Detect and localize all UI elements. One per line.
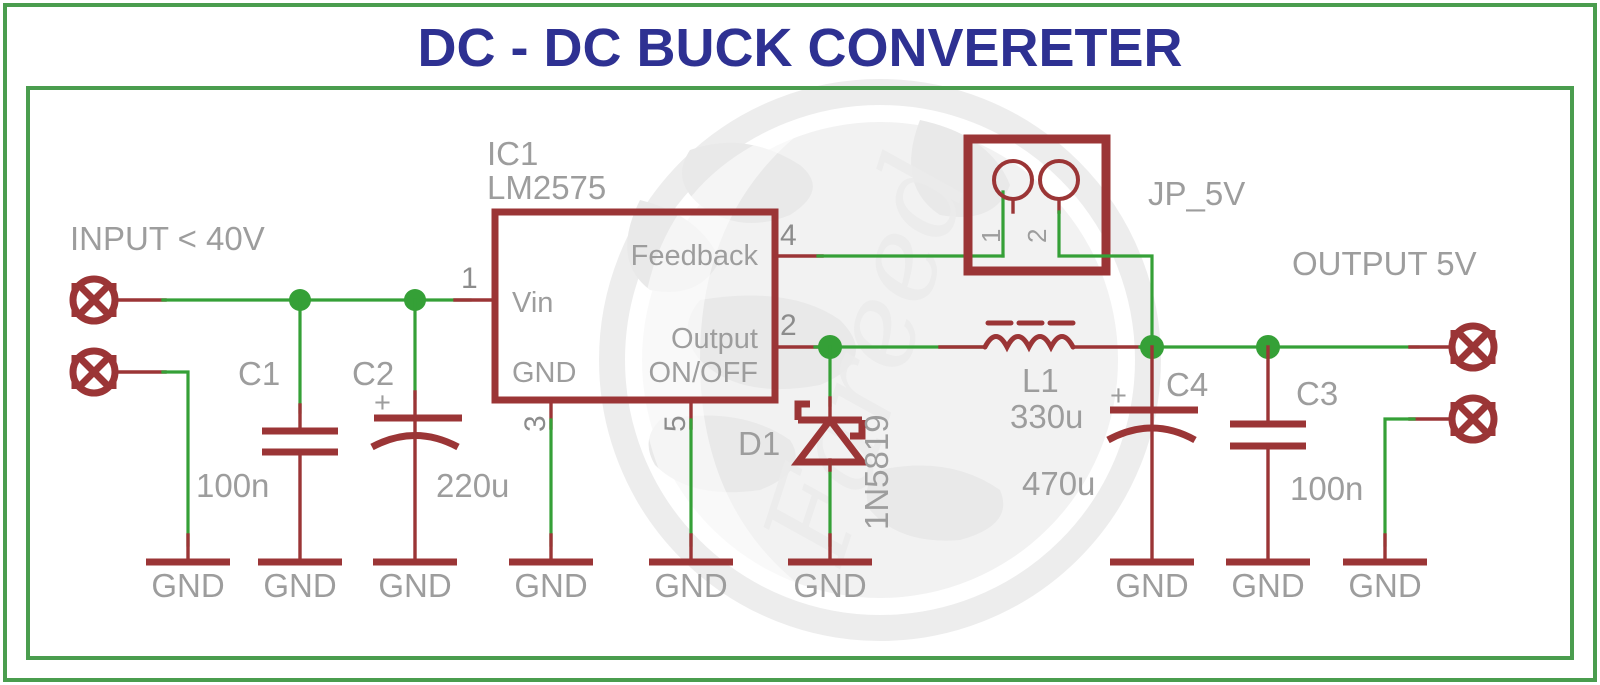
gnd-label: GND	[1231, 567, 1304, 604]
ic1-pin-label-gnd: GND	[512, 357, 576, 389]
output-terminal-negative[interactable]	[1452, 398, 1494, 440]
ground-symbol-8: GND	[1226, 562, 1310, 604]
wire-input-neg-to-gnd	[163, 372, 188, 545]
ground-symbol-3: GND	[373, 562, 457, 604]
output-terminal-positive[interactable]	[1452, 326, 1494, 368]
gnd-label: GND	[378, 567, 451, 604]
c2-value: 220u	[436, 467, 509, 504]
ic1-pin-number-4: 4	[780, 219, 797, 252]
wire-output-neg-to-gnd	[1385, 419, 1414, 545]
ic1-part: LM2575	[487, 169, 606, 206]
ground-symbol-1: GND	[146, 562, 230, 604]
jp5v-pin-2: 2	[1022, 229, 1052, 243]
input-terminal-negative[interactable]	[73, 351, 115, 393]
ground-symbol-7: GND	[1110, 562, 1194, 604]
schematic-sheet: Fareed DC - DC BUCK CONVERETER INPUT < 4…	[0, 0, 1600, 685]
gnd-label: GND	[654, 567, 727, 604]
gnd-label: GND	[151, 567, 224, 604]
ic1-pin-number-3: 3	[519, 415, 552, 432]
gnd-label: GND	[1115, 567, 1188, 604]
d1-value: 1N5819	[858, 414, 895, 530]
c4-polarity: +	[1110, 380, 1127, 412]
ic1-ref: IC1	[487, 135, 538, 172]
output-label: OUTPUT 5V	[1292, 245, 1477, 282]
ic1-pin-label-onoff: ON/OFF	[648, 357, 758, 389]
c2-polarity: +	[374, 387, 391, 419]
ground-symbol-9: GND	[1343, 562, 1427, 604]
ic1-pin-label-vin: Vin	[512, 287, 553, 319]
c1-ref: C1	[238, 355, 280, 392]
ic1-pin-label-output: Output	[671, 323, 758, 355]
c3-value: 100n	[1290, 470, 1363, 507]
d1-ref: D1	[738, 425, 780, 462]
c3-ref: C3	[1296, 375, 1338, 412]
gnd-label: GND	[263, 567, 336, 604]
gnd-label: GND	[793, 567, 866, 604]
jp5v-pin-1: 1	[976, 229, 1006, 243]
gnd-label: GND	[1348, 567, 1421, 604]
ground-symbol-4: GND	[509, 562, 593, 604]
l1-ref: L1	[1022, 362, 1059, 399]
ic1-pin-number-5: 5	[659, 415, 692, 432]
ground-symbol-6: GND	[788, 562, 872, 604]
ic1-pin-number-1: 1	[461, 262, 478, 295]
input-label: INPUT < 40V	[70, 220, 265, 257]
input-terminal-positive[interactable]	[73, 279, 115, 321]
ground-symbol-2: GND	[258, 562, 342, 604]
ic1-pin-number-2: 2	[780, 309, 797, 342]
gnd-label: GND	[514, 567, 587, 604]
capacitor-c1	[262, 431, 338, 562]
l1-value-alt: 470u	[1022, 465, 1095, 502]
c4-ref: C4	[1166, 366, 1208, 403]
ground-symbol-5: GND	[649, 562, 733, 604]
connector-label: JP_5V	[1148, 175, 1245, 212]
c1-value: 100n	[196, 467, 269, 504]
page-title: DC - DC BUCK CONVERETER	[417, 18, 1182, 78]
l1-value: 330u	[1010, 398, 1083, 435]
ic1-pin-label-feedback: Feedback	[631, 240, 759, 272]
